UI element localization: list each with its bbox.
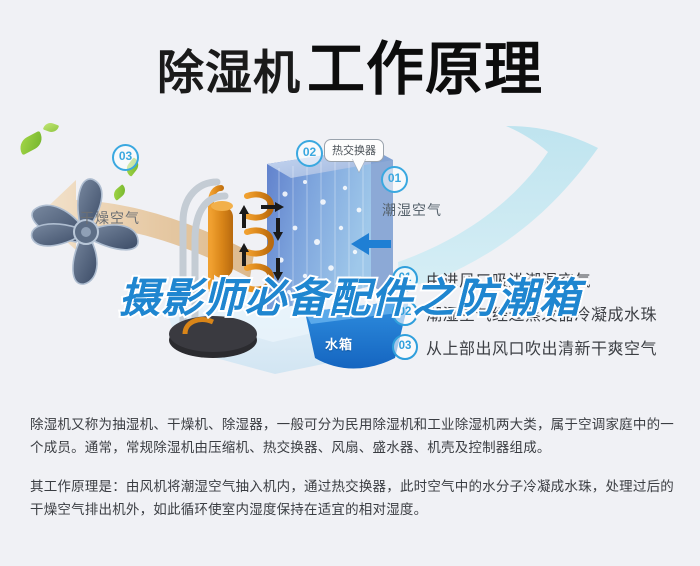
legend-number-03: 03 — [392, 334, 418, 360]
badge-02-diagram: 02 — [296, 140, 323, 167]
leaf-icon — [43, 121, 59, 134]
humid-air-label: 潮湿空气 — [382, 200, 442, 220]
water-tank-label: 水箱 — [325, 334, 353, 353]
dry-air-label: 干燥空气 — [80, 208, 140, 228]
body-copy: 除湿机又称为抽湿机、干燥机、除湿器，一般可分为民用除湿机和工业除湿机两大类，属于… — [30, 414, 674, 538]
title-part-product: 除湿机 — [157, 46, 301, 101]
body-paragraph-1: 除湿机又称为抽湿机、干燥机、除湿器，一般可分为民用除湿机和工业除湿机两大类，属于… — [30, 414, 674, 460]
watermark-text-outline: 摄影师必备配件之防潮箱 — [0, 264, 700, 324]
infographic-page: 除湿机工作原理 — [0, 0, 700, 566]
leaf-icon — [16, 131, 46, 156]
legend-text-03: 从上部出风口吹出清新干爽空气 — [426, 335, 657, 359]
list-item: 03 从上部出风口吹出清新干爽空气 — [392, 330, 692, 364]
badge-01-diagram: 01 — [381, 166, 408, 193]
title-part-principle: 工作原理 — [307, 35, 543, 103]
callout-tail-icon — [352, 158, 366, 172]
badge-03-diagram: 03 — [112, 144, 139, 171]
page-title: 除湿机工作原理 — [0, 22, 700, 106]
body-paragraph-2: 其工作原理是：由风机将潮湿空气抽入机内，通过热交换器，此时空气中的水分子冷凝成水… — [30, 476, 674, 522]
